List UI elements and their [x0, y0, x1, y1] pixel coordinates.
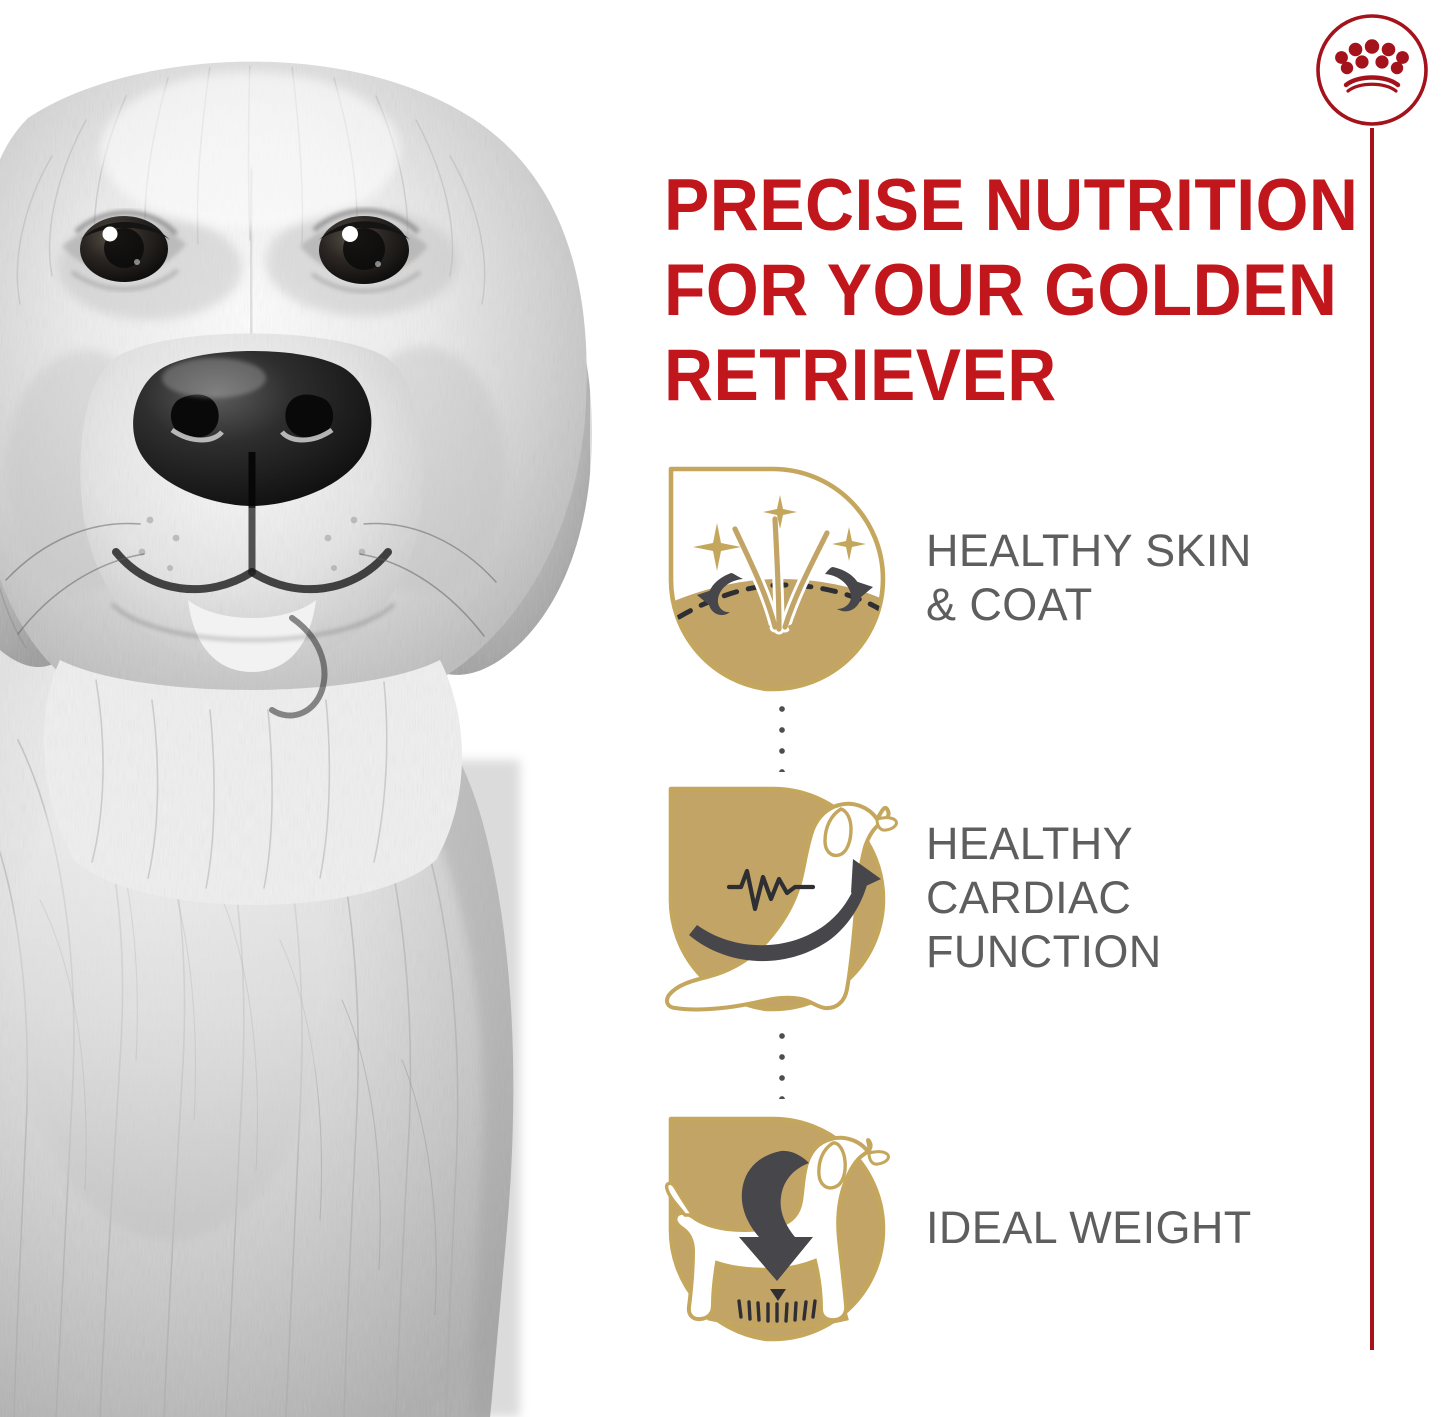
benefit-label-healthy-cardiac-function: HEALTHY CARDIAC FUNCTION: [926, 817, 1162, 979]
benefit-connector-dotted-1: [779, 706, 785, 772]
benefit-connector-dotted-2: [779, 1033, 785, 1099]
ideal-weight-icon: [655, 1105, 900, 1350]
page-title-line-3: RETRIEVER: [664, 333, 1296, 418]
royal-canin-crown-logo: [1300, 8, 1445, 148]
benefit-list: HEALTHY SKIN & COAT: [655, 455, 1375, 1355]
benefit-item-ideal-weight: IDEAL WEIGHT: [655, 1105, 1375, 1350]
healthy-cardiac-function-icon: [655, 775, 900, 1020]
benefit-label-healthy-skin-and-coat: HEALTHY SKIN & COAT: [926, 524, 1252, 632]
product-benefit-panel: PRECISE NUTRITION FOR YOUR GOLDEN RETRIE…: [0, 0, 1445, 1417]
healthy-skin-and-coat-icon: [655, 455, 900, 700]
page-title: PRECISE NUTRITION FOR YOUR GOLDEN RETRIE…: [664, 163, 1296, 418]
page-title-line-2: FOR YOUR GOLDEN: [664, 248, 1296, 333]
page-title-line-1: PRECISE NUTRITION: [664, 163, 1296, 248]
golden-retriever-photo: [0, 0, 655, 1417]
benefit-item-healthy-skin-and-coat: HEALTHY SKIN & COAT: [655, 455, 1375, 700]
benefit-item-healthy-cardiac-function: HEALTHY CARDIAC FUNCTION: [655, 775, 1375, 1020]
benefit-label-ideal-weight: IDEAL WEIGHT: [926, 1201, 1252, 1255]
